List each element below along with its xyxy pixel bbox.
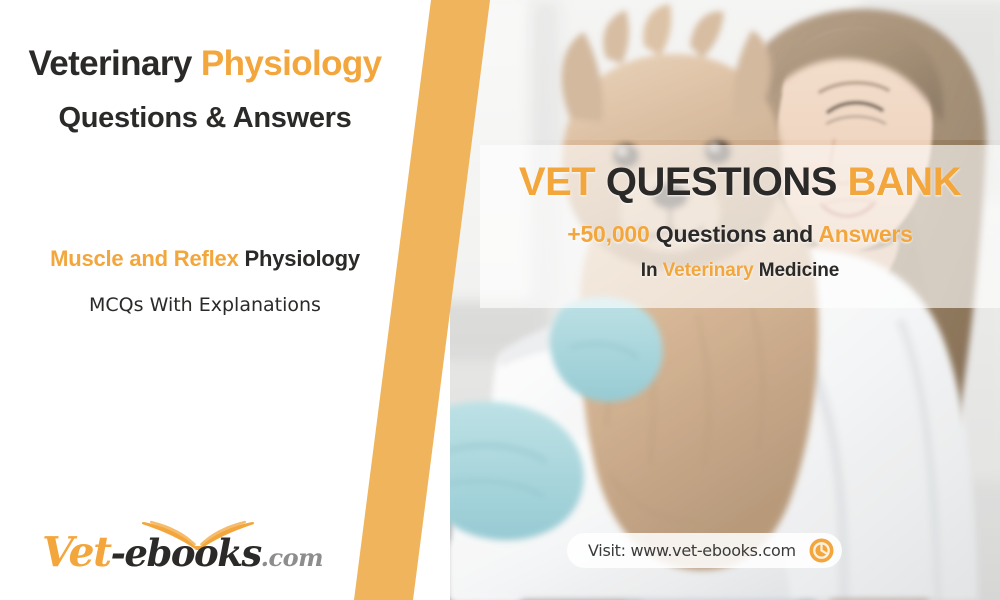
logo-vet-text: Vet [42, 528, 111, 576]
subheadline-1-part-3: Answers [818, 221, 912, 247]
logo-ebooks-text: -ebooks [111, 531, 261, 575]
subheadline-1-part-1: +50,000 [567, 221, 656, 247]
subheadline-2: In Veterinary Medicine [480, 261, 1000, 280]
subject-part-1: Muscle and Reflex [50, 246, 244, 271]
visit-url-pill[interactable]: Visit: www.vet-ebooks.com [567, 533, 842, 568]
headline-part-2: QUESTIONS [606, 160, 848, 204]
headline-part-3: BANK [848, 160, 962, 204]
subheadline-2-part-3: Medicine [759, 260, 840, 281]
circle-logo-icon[interactable] [809, 538, 834, 563]
subheadline-1: +50,000 Questions and Answers [480, 223, 1000, 246]
headline-part-1: VET [519, 160, 606, 204]
subheadline-2-part-1: In [641, 260, 663, 281]
logo-wordmark: Vet-ebooks.com [42, 528, 292, 576]
subheadline-2-part-2: Veterinary [663, 260, 759, 281]
title-block: Veterinary Physiology Questions & Answer… [0, 44, 410, 136]
logo-com-text: .com [261, 543, 323, 572]
book-cover: Veterinary Physiology Questions & Answer… [0, 0, 1000, 600]
subject-part-2: Physiology [245, 246, 360, 271]
main-title-line-1: Veterinary Physiology [0, 44, 410, 84]
main-title-part-1: Veterinary [28, 44, 200, 83]
headline-overlay-panel: VET QUESTIONS BANK +50,000 Questions and… [480, 145, 1000, 308]
main-title-part-2: Physiology [201, 44, 382, 83]
subject-line-1: Muscle and Reflex Physiology [0, 246, 410, 272]
left-title-panel: Veterinary Physiology Questions & Answer… [0, 0, 450, 600]
main-title-line-2: Questions & Answers [0, 102, 410, 135]
vet-ebooks-logo[interactable]: Vet-ebooks.com [42, 516, 292, 578]
visit-url-label: Visit: www.vet-ebooks.com [588, 541, 796, 560]
subheadline-1-part-2: Questions and [656, 221, 818, 247]
subject-line-2: MCQs With Explanations [0, 294, 410, 317]
subject-block: Muscle and Reflex Physiology MCQs With E… [0, 246, 410, 317]
headline: VET QUESTIONS BANK [480, 162, 1000, 202]
